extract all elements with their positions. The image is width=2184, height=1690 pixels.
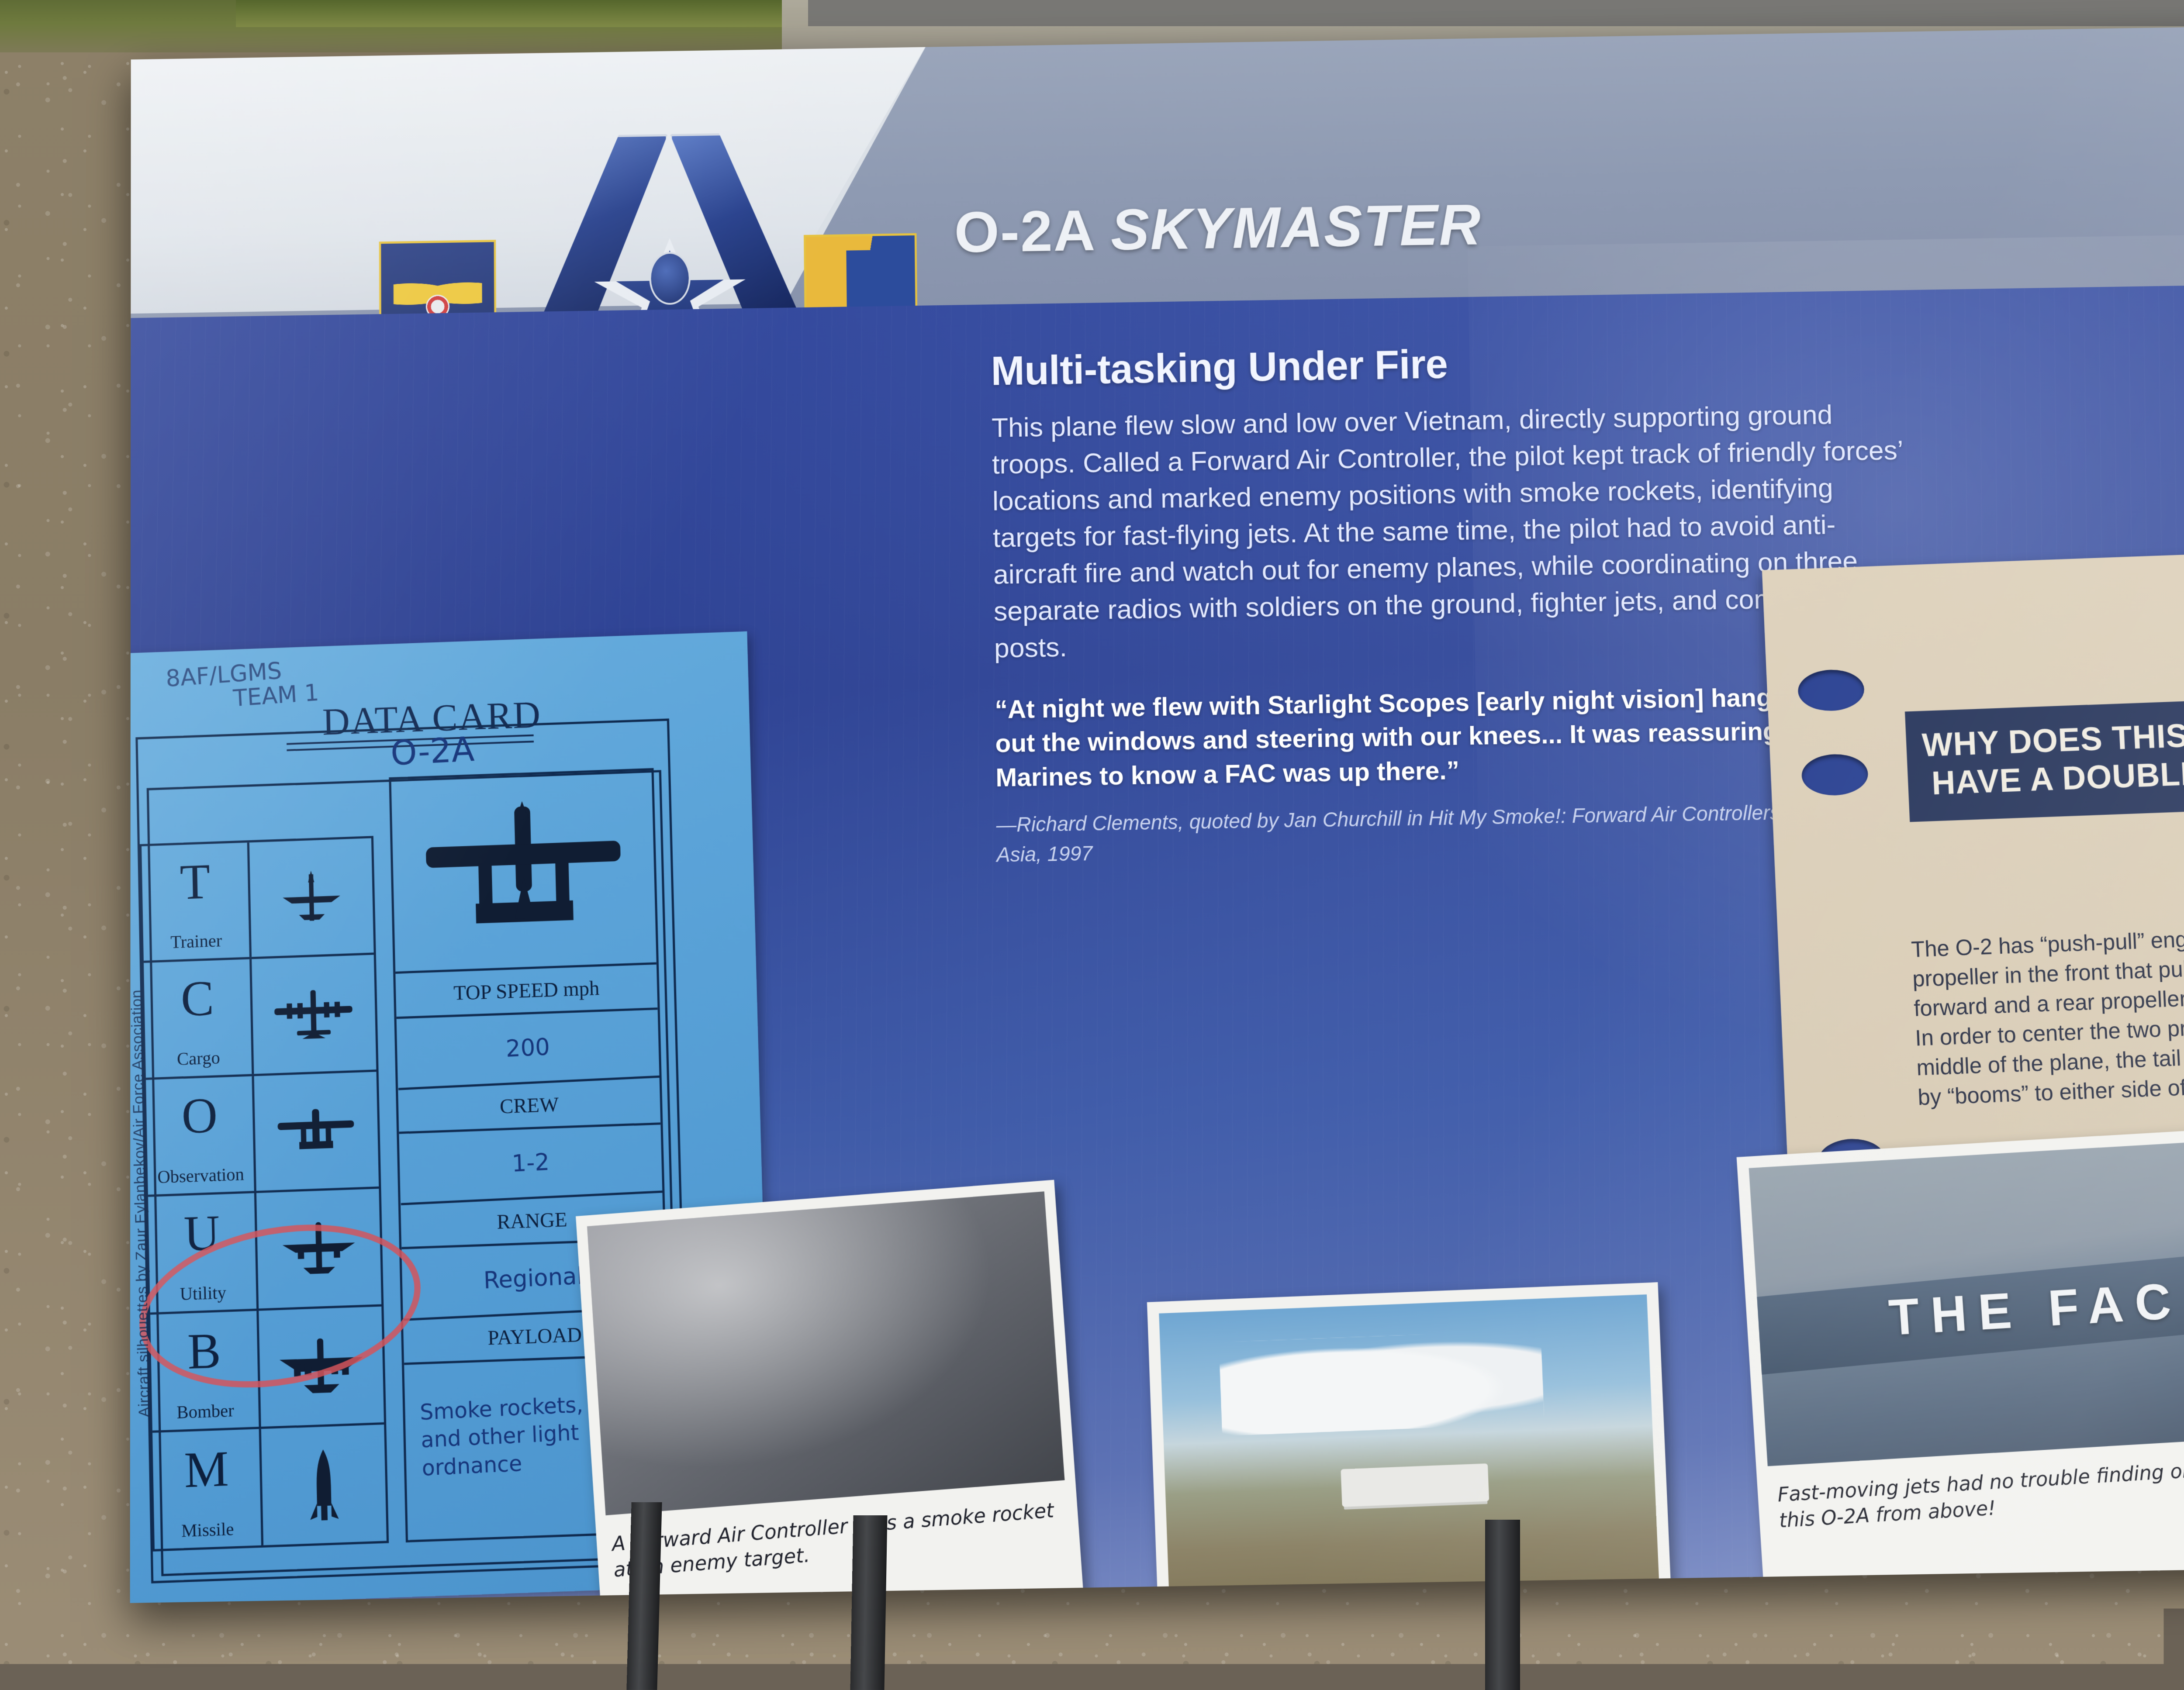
code-label: Observation: [148, 1163, 254, 1188]
code-letter: O: [146, 1085, 253, 1147]
mission-code-row: C Cargo: [144, 955, 377, 1080]
mission-code-row: T Trainer: [142, 838, 374, 962]
jet-trainer-silhouette-icon: [249, 838, 374, 957]
punch-hole-icon: [1801, 753, 1869, 797]
punch-hole-icon: [1797, 669, 1865, 712]
sign-post-left: [626, 1502, 662, 1690]
mission-code-grid: T Trainer: [139, 836, 389, 1552]
code-label: Trainer: [143, 929, 249, 954]
mission-code-letter-cell: C Cargo: [144, 959, 254, 1077]
grass-patch: [236, 0, 786, 27]
missile-silhouette-icon: [261, 1424, 387, 1545]
code-label: Bomber: [152, 1399, 259, 1424]
code-letter: C: [144, 968, 251, 1030]
tarmac-strip: [808, 0, 2184, 26]
cloud-detail: [1219, 1330, 1545, 1436]
aircraft-detail: [1341, 1463, 1489, 1507]
screenshot-root: AIR FORCE GLOBAL STRIKE COMMAND 28th BOM…: [0, 0, 2184, 1690]
title-designation: O-2A: [954, 198, 1094, 265]
mission-code-letter-cell: O Observation: [146, 1076, 256, 1195]
sign-post-center: [850, 1515, 888, 1690]
photo-image: [587, 1191, 1064, 1515]
code-label: Missile: [154, 1517, 261, 1542]
spec-value-top-speed: 200: [396, 1008, 660, 1090]
attribution-year: , 1997: [1036, 842, 1093, 866]
photo-image: [1159, 1294, 1660, 1603]
mission-code-letter-cell: T Trainer: [142, 842, 252, 960]
title-name: SKYMASTER: [1110, 192, 1482, 262]
mission-code-row: O Observation: [146, 1072, 379, 1197]
photo-the-fac: THE FAC Fast-moving jets had no trouble …: [1737, 1124, 2184, 1603]
interpretive-sign-board: AIR FORCE GLOBAL STRIKE COMMAND 28th BOM…: [130, 24, 2184, 1603]
photo-o2a-in-flight: Most planes have unofficial nicknames. T…: [1147, 1282, 1681, 1603]
observation-plane-silhouette-icon: [254, 1072, 379, 1191]
attribution-prefix: —Richard Clements, quoted by Jan Churchi…: [996, 807, 1429, 837]
mission-code-row: M Missile: [152, 1424, 387, 1549]
o2a-top-silhouette-icon: [391, 770, 656, 974]
cargo-plane-silhouette-icon: [252, 955, 376, 1073]
double-tail-body-text: The O-2 has “push-pull” engines: a prope…: [1911, 919, 2184, 1112]
code-letter: M: [152, 1438, 260, 1501]
code-label: Cargo: [145, 1046, 252, 1071]
mission-code-letter-cell: M Missile: [152, 1429, 263, 1549]
double-tail-question-header: WHY DOES THIS PLANE HAVE A DOUBLE TAIL?: [1905, 696, 2184, 822]
photo-image: THE FAC: [1749, 1136, 2184, 1466]
code-letter: T: [142, 852, 249, 913]
main-blue-panel: Multi-tasking Under Fire This plane flew…: [130, 282, 2184, 1603]
sign-post-right: [1485, 1520, 1520, 1690]
spec-value-crew: 1-2: [399, 1123, 663, 1205]
